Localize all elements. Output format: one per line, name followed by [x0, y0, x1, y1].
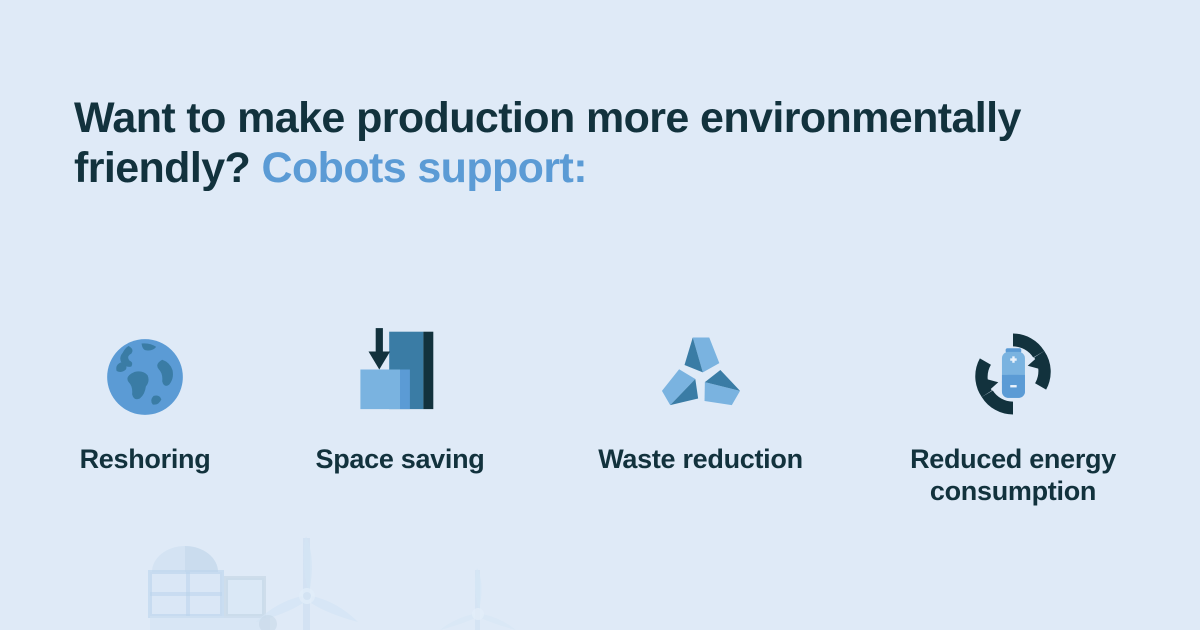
space-saving-icon — [300, 312, 500, 420]
background-scenery — [0, 520, 1200, 630]
feature-label: Waste reduction — [588, 444, 813, 476]
feature-list: Reshoring Space saving — [0, 312, 1200, 522]
infographic-canvas: Want to make production more environment… — [0, 0, 1200, 630]
globe-icon — [45, 312, 245, 420]
feature-item-space-saving: Space saving — [300, 312, 500, 476]
headline-line-2-prefix: friendly? — [74, 144, 262, 192]
feature-label: Space saving — [300, 444, 500, 476]
feature-item-waste-reduction: Waste reduction — [588, 312, 813, 476]
page-title: Want to make production more environment… — [74, 94, 1084, 194]
battery-recycle-icon — [888, 312, 1138, 420]
headline-accent: Cobots support: — [262, 144, 587, 192]
feature-label: Reshoring — [45, 444, 245, 476]
feature-label: Reduced energy consumption — [888, 444, 1138, 508]
recycle-icon — [588, 312, 813, 420]
wind-turbine-icon — [256, 536, 358, 630]
feature-item-reduced-energy: Reduced energy consumption — [888, 312, 1138, 508]
domed-building-icon — [150, 546, 270, 630]
feature-item-reshoring: Reshoring — [45, 312, 245, 476]
wind-turbine-icon — [440, 568, 516, 630]
headline-line-1: Want to make production more environment… — [74, 94, 1021, 142]
shrub-icon — [259, 615, 277, 630]
